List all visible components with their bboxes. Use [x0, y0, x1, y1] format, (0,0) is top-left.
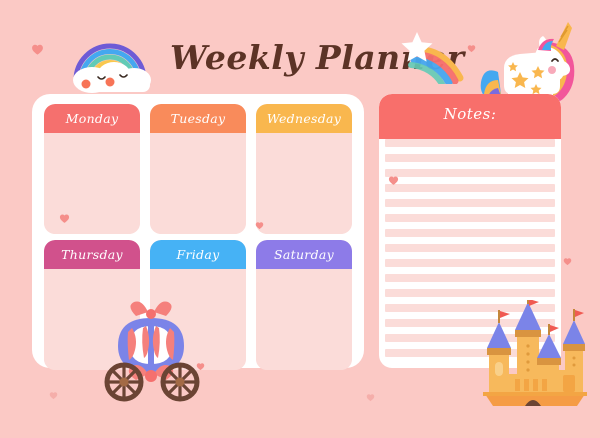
day-header-friday: Friday — [150, 240, 246, 269]
heart-icon — [31, 41, 44, 54]
heart-icon — [255, 215, 264, 224]
heart-icon — [49, 385, 58, 394]
page-title: Weekly Planner — [170, 36, 430, 80]
rainbow-cloud-icon — [58, 22, 168, 94]
notes-label: Notes: — [379, 105, 561, 123]
carriage-icon — [96, 296, 206, 404]
notes-line[interactable] — [385, 184, 555, 192]
notes-line[interactable] — [385, 169, 555, 177]
notes-line[interactable] — [385, 214, 555, 222]
heart-icon — [467, 38, 476, 47]
notes-line[interactable] — [385, 199, 555, 207]
heart-icon — [59, 209, 70, 220]
shooting-star-icon — [398, 30, 472, 84]
notes-line[interactable] — [385, 244, 555, 252]
notes-line[interactable] — [385, 229, 555, 237]
notes-line[interactable] — [385, 289, 555, 297]
planner-page: Weekly Planner — [0, 0, 600, 438]
heart-icon — [196, 356, 205, 365]
notes-line[interactable] — [385, 274, 555, 282]
heart-icon — [388, 171, 399, 182]
day-header-tuesday: Tuesday — [150, 104, 246, 133]
heart-icon — [563, 251, 572, 260]
day-header-saturday: Saturday — [256, 240, 352, 269]
day-body-tuesday[interactable] — [150, 133, 246, 234]
day-cell-tuesday[interactable]: Tuesday — [150, 104, 246, 234]
day-cell-wednesday[interactable]: Wednesday — [256, 104, 352, 234]
day-body-saturday[interactable] — [256, 269, 352, 370]
castle-icon — [473, 300, 589, 408]
day-header-monday: Monday — [44, 104, 140, 133]
day-header-thursday: Thursday — [44, 240, 140, 269]
notes-line[interactable] — [385, 154, 555, 162]
heart-icon — [366, 387, 375, 396]
notes-header: Notes: — [379, 94, 561, 139]
notes-line[interactable] — [385, 259, 555, 267]
day-header-wednesday: Wednesday — [256, 104, 352, 133]
day-body-wednesday[interactable] — [256, 133, 352, 234]
notes-line[interactable] — [385, 139, 555, 147]
day-cell-saturday[interactable]: Saturday — [256, 240, 352, 370]
